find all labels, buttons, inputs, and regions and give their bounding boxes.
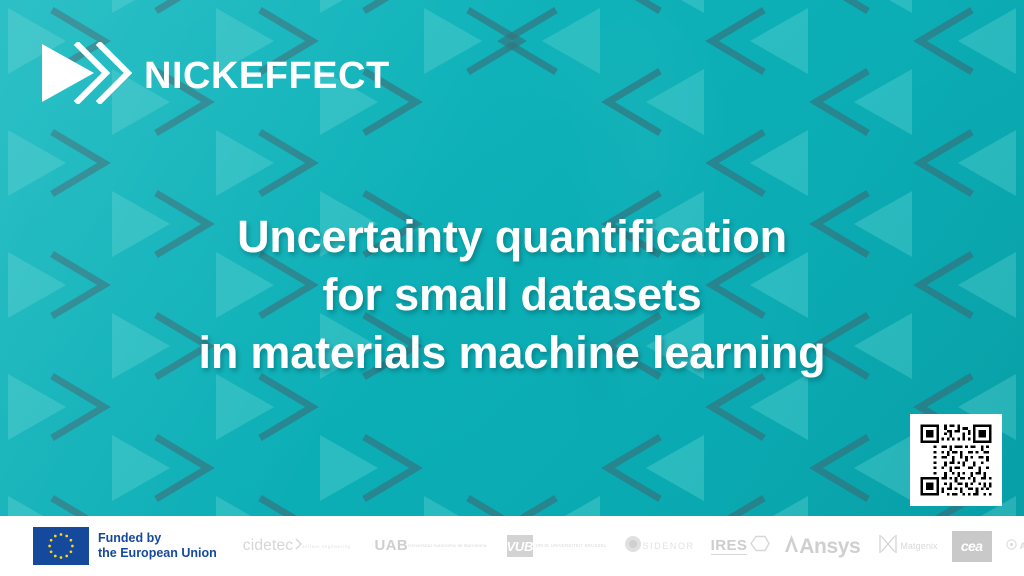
play-triangle-chevrons-icon [38,42,132,109]
eu-funding-line-2: the European Union [98,546,217,560]
advent-wordmark: ADVENT [1020,541,1024,552]
partner-logos: cidetec surface engineering UAB Universi… [237,528,1024,564]
partner-logo-ansys: Ansys [784,534,860,558]
sidenor-wordmark: SIDENOR [642,541,694,552]
partner-logo-cea: cea [952,531,992,562]
vub-badge: VUB [507,535,533,557]
footer-bar: Funded by the European Union cidetec sur… [0,516,1024,576]
matgenix-mark-icon [876,533,900,560]
title-line-3: in materials machine learning [40,324,984,382]
eu-funding-block: Funded by the European Union [33,527,217,565]
eu-flag-icon [33,527,89,565]
brand-name: NICKEFFECT [144,57,390,95]
matgenix-wordmark: Matgenix [900,541,937,552]
cidetec-tagline: surface engineering [302,543,350,550]
presentation-slide: NICKEFFECT Uncertainty quantification fo… [0,0,1024,576]
partner-logo-ires: IRES [711,535,771,557]
vub-tagline: VRIJE UNIVERSITEIT BRUSSEL [536,543,607,549]
partner-logo-advent: ADVENT [1006,537,1024,555]
chevron-right-icon [295,537,302,555]
sidenor-mark-icon [624,535,642,558]
partner-logo-vub: VUB VRIJE UNIVERSITEIT BRUSSEL [507,535,607,557]
ansys-wordmark: Ansys [799,536,860,558]
partner-logo-cidetec: cidetec surface engineering [243,537,351,555]
qr-code[interactable] [910,414,1002,506]
uab-wordmark: UAB [374,538,408,554]
advent-mark-icon [1006,537,1017,555]
partner-logo-uab: UAB Universitat Autònoma de Barcelona [374,538,486,554]
partner-logo-matgenix: Matgenix [876,533,937,560]
eu-funding-text: Funded by the European Union [98,531,217,561]
title-line-1: Uncertainty quantification [40,208,984,266]
uab-tagline: Universitat Autònoma de Barcelona [408,543,487,549]
partner-logo-sidenor: SIDENOR [624,535,694,558]
ansys-mark-icon [784,534,799,558]
hexagon-icon [750,535,770,557]
eu-funding-line-1: Funded by [98,531,161,545]
ires-wordmark: IRES [711,538,748,555]
nickeffect-logo: NICKEFFECT [38,42,390,109]
slide-title: Uncertainty quantification for small dat… [0,208,1024,382]
cea-wordmark: cea [952,531,992,562]
cidetec-wordmark: cidetec [243,538,294,554]
title-line-2: for small datasets [40,266,984,324]
